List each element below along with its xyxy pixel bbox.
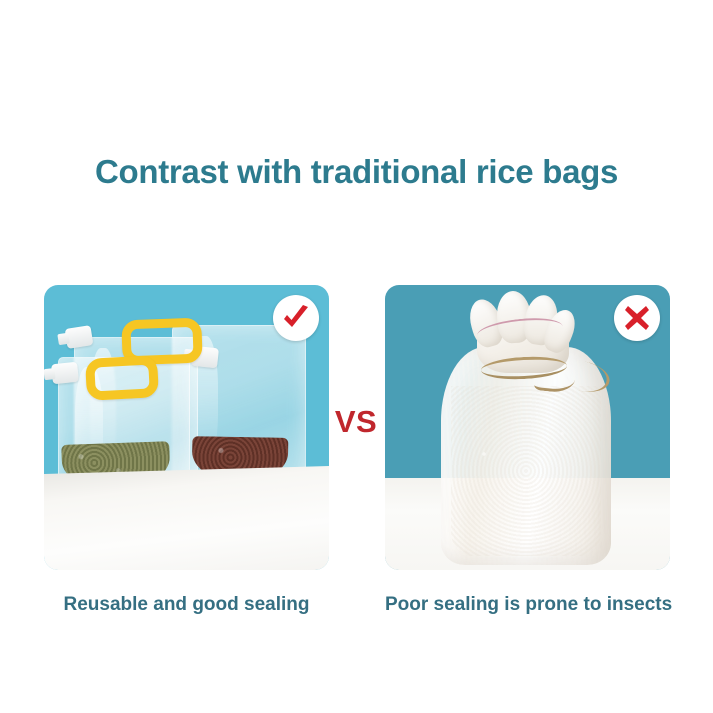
check-mark-badge <box>273 295 319 341</box>
left-panel-reusable-bags <box>44 285 329 570</box>
table-surface <box>44 466 329 570</box>
right-panel-traditional-sack <box>385 285 670 570</box>
cross-mark-badge <box>614 295 660 341</box>
right-panel-caption: Poor sealing is prone to insects <box>385 592 670 618</box>
left-panel-caption: Reusable and good sealing <box>44 592 329 618</box>
product-comparison-image: Contrast with traditional rice bags <box>0 0 713 713</box>
page-title: Contrast with traditional rice bags <box>0 152 713 192</box>
bag-spout-cap <box>65 325 94 349</box>
cross-mark-icon <box>623 304 651 332</box>
bag-spout-cap <box>51 362 79 385</box>
check-mark-icon <box>281 304 311 332</box>
yellow-carry-handle <box>85 355 159 401</box>
vs-label: VS <box>330 405 382 439</box>
